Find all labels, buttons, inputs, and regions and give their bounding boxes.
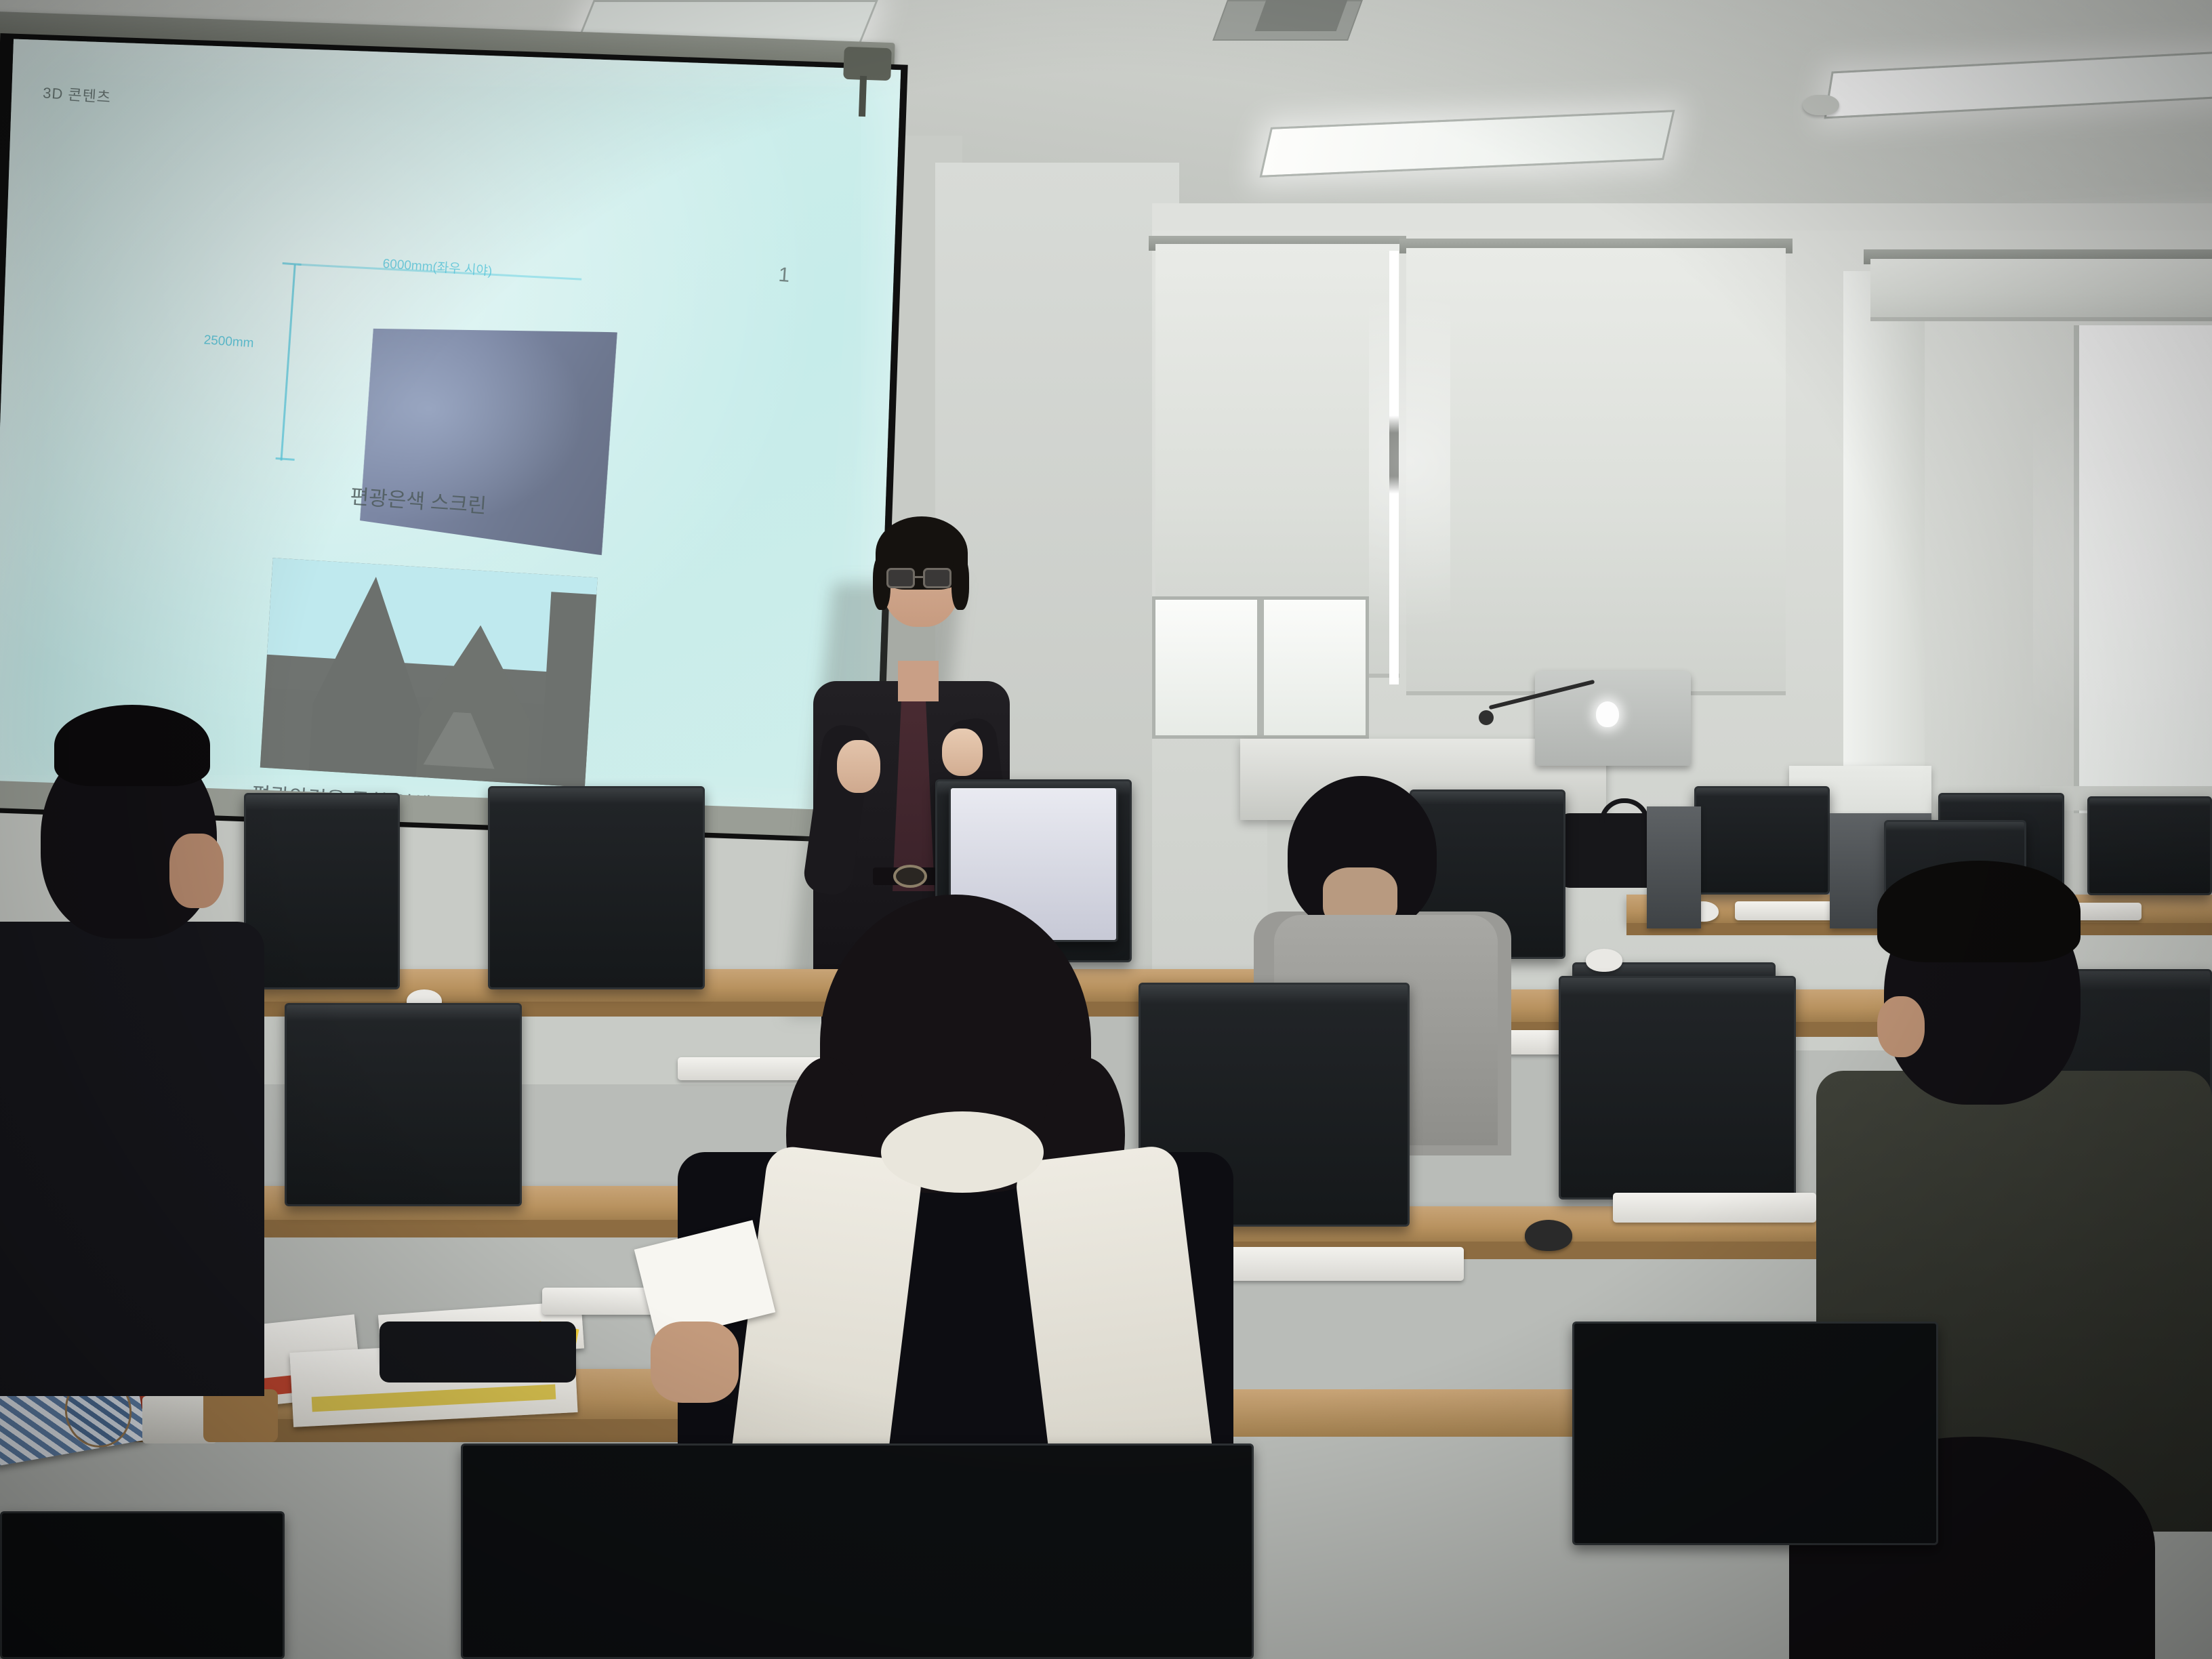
presenter-neck — [898, 661, 939, 701]
monitor-row2-2[interactable] — [488, 786, 705, 989]
student-left-hair — [54, 705, 210, 786]
student-left-face-edge — [169, 834, 224, 908]
mouse-row3-1[interactable] — [1525, 1220, 1572, 1251]
monitor-foreground-left[interactable] — [0, 1511, 285, 1659]
wall-column — [1843, 271, 1925, 827]
monitor-foreground-right[interactable] — [1572, 1322, 1938, 1545]
presenter-hair-side-right — [951, 556, 969, 610]
slide-figure-curved-screen — [359, 315, 617, 555]
blind-gap-light — [1389, 251, 1399, 684]
presenter-hand-left — [837, 740, 880, 793]
monitor-row2-1[interactable] — [244, 793, 400, 989]
monitor-row3-3[interactable] — [1559, 976, 1796, 1200]
student-center-scarf-neck — [881, 1111, 1044, 1193]
apple-logo-icon — [1596, 701, 1619, 727]
monitor-back-1[interactable] — [1694, 786, 1830, 895]
monitor-foreground-center[interactable] — [461, 1443, 1254, 1659]
slide-figure-photo — [260, 558, 598, 787]
microphone-head-icon — [1479, 710, 1494, 725]
presenter-glasses-bridge — [915, 576, 924, 578]
keyboard-row3-1[interactable] — [1220, 1247, 1464, 1281]
student-center-hand — [651, 1322, 739, 1403]
roller-blind-center[interactable] — [1406, 248, 1786, 695]
presenter-glasses-lens-right — [923, 568, 951, 588]
screen-roller-knob[interactable] — [843, 47, 892, 81]
student-left-body — [0, 922, 264, 1396]
presenter-glasses-lens-left — [886, 568, 915, 588]
smoke-detector-icon — [1803, 95, 1839, 115]
classroom-photo-scene: 3D 콘텐츠 1 2500mm 6000mm(좌우 시야) 편광은색 스크린 편… — [0, 0, 2212, 1659]
window-right — [2074, 325, 2212, 813]
student-right-ear — [1877, 996, 1925, 1057]
black-pouch — [380, 1322, 576, 1382]
presenter-hand-right — [942, 729, 983, 776]
roller-blind-right[interactable] — [1870, 259, 2212, 321]
slide-number: 1 — [777, 264, 790, 287]
student-right-hair — [1877, 861, 2081, 962]
screen-pull-cord[interactable] — [859, 76, 867, 117]
presenter-belt-buckle — [893, 865, 927, 888]
wooden-object — [203, 1389, 278, 1442]
keyboard-row3-2[interactable] — [1613, 1193, 1816, 1223]
mouse-row2-2[interactable] — [1586, 949, 1622, 972]
desk-divider-back-2 — [1647, 806, 1701, 928]
monitor-back-3[interactable] — [2087, 796, 2212, 895]
wall-upper-band — [1152, 203, 2212, 230]
monitor-row3-1[interactable] — [285, 1003, 522, 1206]
window-mullion — [1257, 600, 1264, 735]
ceiling-vent-grille — [1255, 0, 1348, 31]
